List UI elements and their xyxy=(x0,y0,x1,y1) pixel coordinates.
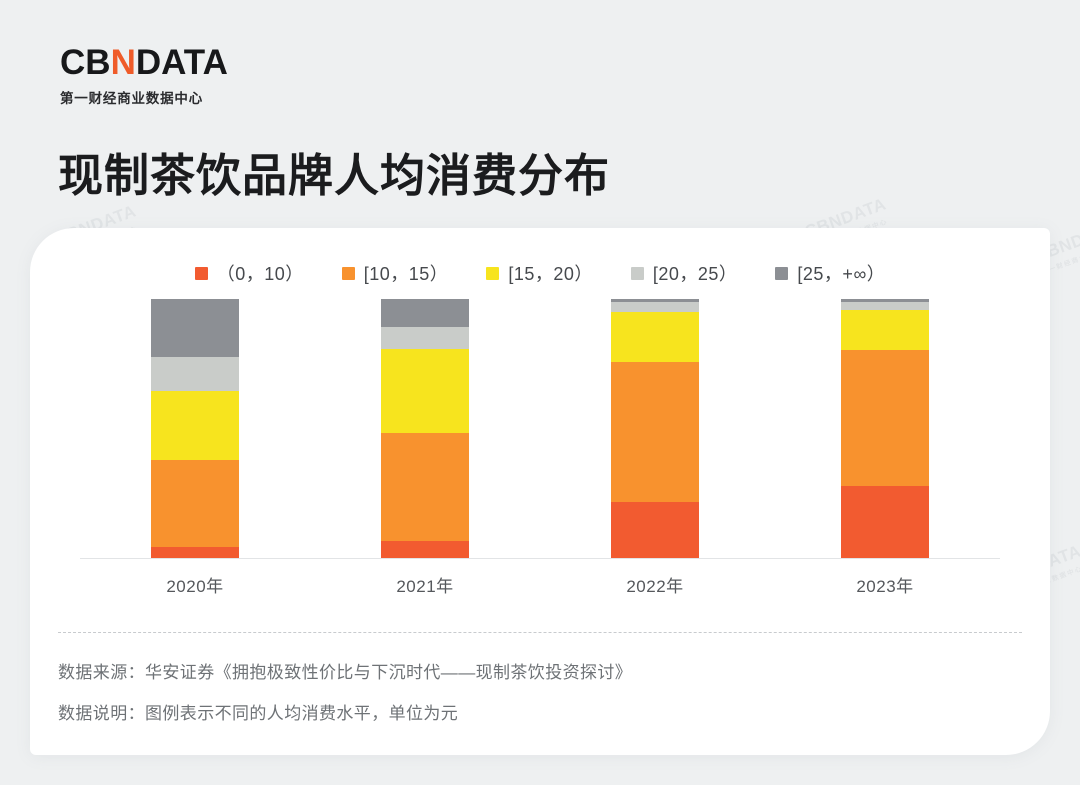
bar-segment[interactable] xyxy=(381,327,469,349)
logo-text-left: CB xyxy=(60,45,111,80)
stacked-bar[interactable] xyxy=(151,299,239,559)
bar-column xyxy=(334,299,516,559)
bar-column xyxy=(564,299,746,559)
legend-item[interactable]: （0，10） xyxy=(195,260,304,286)
bar-segment[interactable] xyxy=(381,541,469,559)
bar-segment[interactable] xyxy=(151,299,239,357)
bar-segment[interactable] xyxy=(841,302,929,310)
bar-segment[interactable] xyxy=(841,350,929,486)
legend-item[interactable]: [15，20） xyxy=(486,260,593,286)
logo-text-right: DATA xyxy=(136,45,228,80)
bar-segment[interactable] xyxy=(381,433,469,540)
x-axis-tick-label: 2022年 xyxy=(564,572,746,597)
bar-column xyxy=(794,299,976,559)
bar-segment[interactable] xyxy=(611,502,699,559)
legend-label: [20，25） xyxy=(653,260,738,286)
data-source-text: 数据来源：华安证券《拥抱极致性价比与下沉时代——现制茶饮投资探讨》 xyxy=(58,658,632,683)
legend-swatch-icon xyxy=(486,267,499,280)
brand-logo: CBNDATA 第一财经商业数据中心 xyxy=(60,45,228,107)
legend-swatch-icon xyxy=(342,267,355,280)
legend-label: [25，+∞） xyxy=(797,260,885,286)
legend-swatch-icon xyxy=(631,267,644,280)
bar-segment[interactable] xyxy=(611,302,699,312)
x-axis-tick-label: 2021年 xyxy=(334,572,516,597)
logo-wordmark: CBNDATA xyxy=(60,45,228,80)
stacked-bar[interactable] xyxy=(381,299,469,559)
chart-legend: （0，10） [10，15） [15，20） [20，25） [25，+∞） xyxy=(30,260,1050,286)
x-axis-labels: 2020年2021年2022年2023年 xyxy=(80,572,1000,597)
bar-group xyxy=(80,299,1000,559)
legend-label: [15，20） xyxy=(508,260,593,286)
bar-segment[interactable] xyxy=(841,486,929,559)
legend-item[interactable]: [20，25） xyxy=(631,260,738,286)
x-axis-line xyxy=(80,558,1000,559)
bar-segment[interactable] xyxy=(381,299,469,327)
bar-segment[interactable] xyxy=(151,460,239,547)
stacked-bar[interactable] xyxy=(611,299,699,559)
bar-segment[interactable] xyxy=(611,312,699,361)
bar-segment[interactable] xyxy=(841,310,929,350)
legend-item[interactable]: [10，15） xyxy=(342,260,449,286)
footer-divider xyxy=(58,632,1022,633)
x-axis-tick-label: 2023年 xyxy=(794,572,976,597)
legend-label: [10，15） xyxy=(364,260,449,286)
stacked-bar[interactable] xyxy=(841,299,929,559)
x-axis-tick-label: 2020年 xyxy=(104,572,286,597)
bar-segment[interactable] xyxy=(151,357,239,391)
bar-segment[interactable] xyxy=(381,349,469,434)
chart-plot-area xyxy=(80,299,1000,559)
legend-item[interactable]: [25，+∞） xyxy=(775,260,885,286)
logo-subtitle: 第一财经商业数据中心 xyxy=(60,87,228,107)
bar-segment[interactable] xyxy=(611,362,699,502)
bar-column xyxy=(104,299,286,559)
data-note-text: 数据说明：图例表示不同的人均消费水平，单位为元 xyxy=(58,699,458,724)
bar-segment[interactable] xyxy=(151,391,239,460)
legend-swatch-icon xyxy=(195,267,208,280)
page-title: 现制茶饮品牌人均消费分布 xyxy=(58,139,610,204)
legend-swatch-icon xyxy=(775,267,788,280)
legend-label: （0，10） xyxy=(217,260,304,286)
logo-accent-letter: N xyxy=(111,45,136,80)
chart-card: （0，10） [10，15） [15，20） [20，25） [25，+∞） 2… xyxy=(30,228,1050,755)
